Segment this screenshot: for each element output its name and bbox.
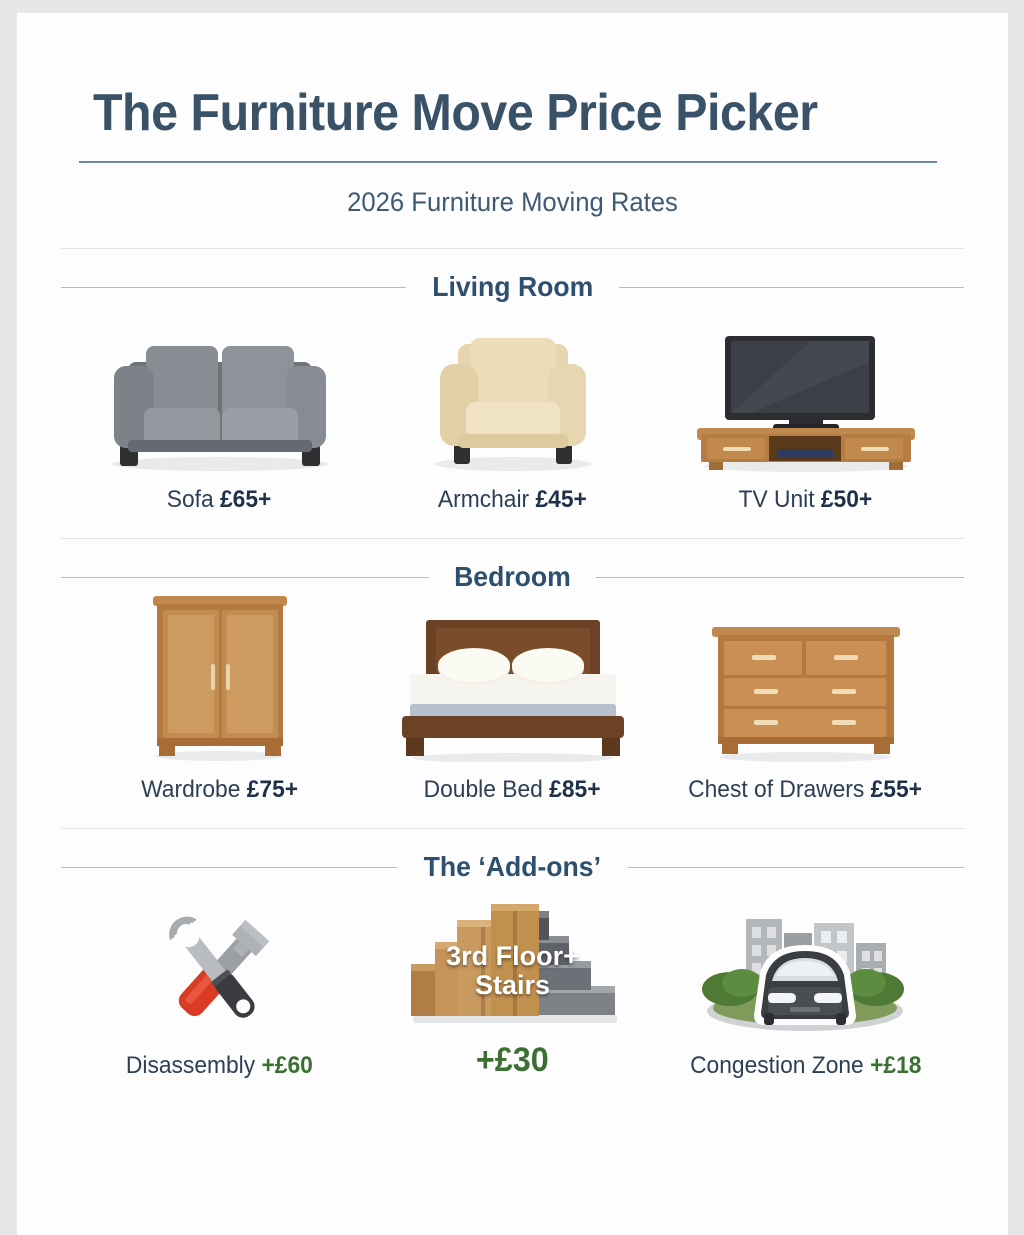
section-divider-living-room bbox=[61, 538, 964, 539]
item-name: Disassembly bbox=[126, 1052, 255, 1079]
item-name: TV Unit bbox=[739, 486, 815, 513]
item-wardrobe[interactable]: Wardrobe £75+ bbox=[73, 597, 366, 804]
caption-congestion-zone: Congestion Zone +£18 bbox=[690, 1052, 921, 1080]
caption-tv-unit: TV Unit £50+ bbox=[739, 486, 873, 514]
caption-double-bed: Double Bed £85+ bbox=[424, 776, 601, 804]
item-name: Chest of Drawers bbox=[689, 776, 865, 803]
title-underline bbox=[79, 161, 937, 163]
section-divider-bedroom bbox=[61, 828, 964, 829]
section-header-living-room: Living Room bbox=[61, 271, 964, 303]
section-rule-right bbox=[628, 867, 964, 868]
item-price: £45+ bbox=[536, 486, 587, 513]
item-chest-of-drawers[interactable]: Chest of Drawers £55+ bbox=[659, 597, 952, 804]
infographic-card: The Furniture Move Price Picker 2026 Fur… bbox=[17, 13, 1008, 1235]
items-row-living-room: Sofa £65+ bbox=[61, 307, 964, 514]
wardrobe-icon bbox=[80, 597, 360, 762]
page-title: The Furniture Move Price Picker bbox=[79, 83, 885, 143]
section-rule-left bbox=[61, 577, 429, 578]
item-sofa[interactable]: Sofa £65+ bbox=[73, 307, 366, 514]
item-disassembly[interactable]: Disassembly +£60 bbox=[73, 898, 366, 1080]
items-row-add-ons: Disassembly +£60 bbox=[61, 887, 964, 1080]
caption-armchair: Armchair £45+ bbox=[438, 486, 587, 514]
caption-wardrobe: Wardrobe £75+ bbox=[141, 776, 298, 804]
chest-of-drawers-icon bbox=[666, 597, 946, 762]
caption-chest-of-drawers: Chest of Drawers £55+ bbox=[689, 776, 923, 804]
item-price: £65+ bbox=[220, 486, 271, 513]
caption-disassembly: Disassembly +£60 bbox=[126, 1052, 313, 1080]
item-price: £85+ bbox=[550, 776, 601, 803]
armchair-icon bbox=[373, 307, 653, 472]
tools-icon bbox=[80, 898, 360, 1038]
section-rule-right bbox=[596, 577, 964, 578]
item-name: Wardrobe bbox=[141, 776, 240, 803]
congestion-zone-icon bbox=[666, 898, 946, 1038]
item-name: Sofa bbox=[167, 486, 214, 513]
item-price: +£60 bbox=[262, 1052, 313, 1079]
item-name: Congestion Zone bbox=[690, 1052, 864, 1079]
item-tv-unit[interactable]: TV Unit £50+ bbox=[659, 307, 952, 514]
caption-sofa: Sofa £65+ bbox=[167, 486, 272, 514]
section-add-ons: The ‘Add-ons’ bbox=[17, 851, 1008, 1080]
section-rule-left bbox=[61, 867, 397, 868]
item-name: Armchair bbox=[438, 486, 529, 513]
sofa-icon bbox=[80, 307, 360, 472]
section-living-room: Living Room bbox=[17, 271, 1008, 539]
boxes-stairs-icon: 3rd Floor+ Stairs bbox=[373, 887, 653, 1027]
item-price: £55+ bbox=[871, 776, 922, 803]
item-congestion-zone[interactable]: Congestion Zone +£18 bbox=[659, 898, 952, 1080]
page-subtitle: 2026 Furniture Moving Rates bbox=[101, 187, 925, 218]
item-double-bed[interactable]: Double Bed £85+ bbox=[366, 597, 659, 804]
items-row-bedroom: Wardrobe £75+ bbox=[61, 597, 964, 804]
section-header-add-ons: The ‘Add-ons’ bbox=[61, 851, 964, 883]
header-divider bbox=[61, 248, 964, 249]
item-price: +£18 bbox=[870, 1052, 921, 1079]
header: The Furniture Move Price Picker 2026 Fur… bbox=[17, 13, 1008, 218]
section-title-living-room: Living Room bbox=[432, 271, 593, 303]
item-name: Double Bed bbox=[424, 776, 543, 803]
item-price: £50+ bbox=[821, 486, 872, 513]
item-armchair[interactable]: Armchair £45+ bbox=[366, 307, 659, 514]
section-rule-right bbox=[619, 287, 964, 288]
item-stairs[interactable]: 3rd Floor+ Stairs +£30 bbox=[366, 887, 659, 1080]
tv-unit-icon bbox=[666, 307, 946, 472]
section-bedroom: Bedroom bbox=[17, 561, 1008, 829]
section-title-bedroom: Bedroom bbox=[454, 561, 571, 593]
caption-stairs: +£30 bbox=[476, 1041, 549, 1080]
item-price: £75+ bbox=[247, 776, 298, 803]
section-title-add-ons: The ‘Add-ons’ bbox=[424, 851, 601, 883]
section-rule-left bbox=[61, 287, 406, 288]
double-bed-icon bbox=[373, 597, 653, 762]
